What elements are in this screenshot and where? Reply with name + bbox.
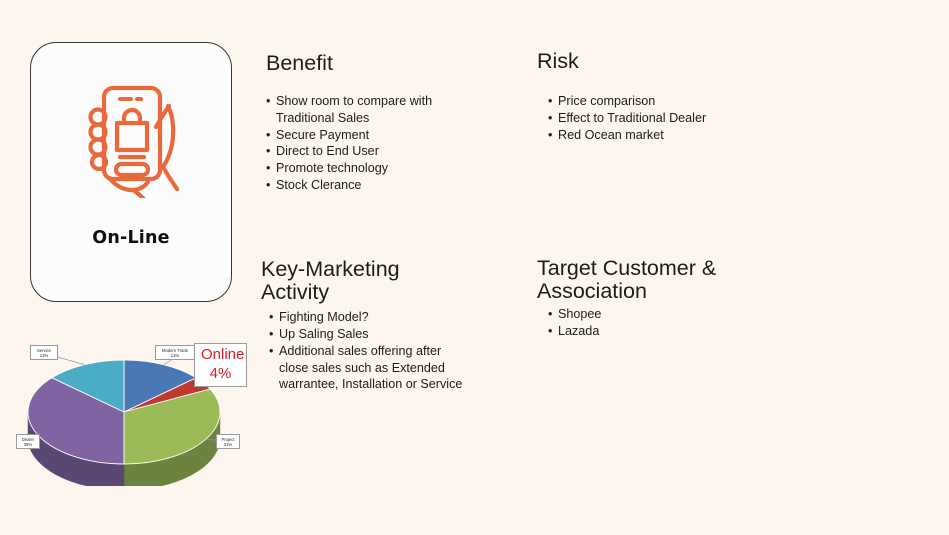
target-customer-bullet-list: Shopee Lazada: [548, 306, 797, 339]
pie-label-online: Online 4%: [194, 343, 247, 387]
section-title-benefit: Benefit: [266, 52, 516, 75]
pie-label-service: Service 13%: [30, 345, 58, 360]
list-item: Fighting Model?: [269, 309, 516, 326]
list-item: Red Ocean market: [548, 127, 787, 144]
pie-label-project: Project 31%: [216, 434, 240, 449]
sales-channel-pie-chart: Service 13% Modern Trade 13% Dealer 35% …: [8, 336, 258, 486]
pie-label-dealer: Dealer 35%: [16, 434, 40, 449]
section-title-key-marketing-activity: Key-Marketing Activity: [261, 258, 516, 304]
list-item: Up Saling Sales: [269, 326, 516, 343]
list-item: Direct to End User: [266, 143, 516, 160]
section-risk: Risk Price comparison Effect to Traditio…: [537, 50, 787, 143]
section-benefit: Benefit Show room to compare with Tradit…: [266, 52, 516, 194]
list-item: Show room to compare with Traditional Sa…: [266, 93, 516, 126]
key-marketing-bullet-list: Fighting Model? Up Saling Sales Addition…: [269, 309, 516, 393]
pie-label-modern-trade: Modern Trade 13%: [155, 345, 195, 360]
list-item: Secure Payment: [266, 127, 516, 144]
section-title-target-customer-association: Target Customer & Association: [537, 257, 797, 303]
online-channel-card: On-Line: [30, 42, 232, 302]
hand-holding-phone-shopping-icon: [76, 83, 186, 203]
list-item: Additional sales offering after close sa…: [269, 343, 516, 393]
list-item: Shopee: [548, 306, 797, 323]
list-item: Promote technology: [266, 160, 516, 177]
section-title-risk: Risk: [537, 50, 787, 73]
card-label: On-Line: [31, 228, 231, 248]
risk-bullet-list: Price comparison Effect to Traditional D…: [548, 93, 787, 143]
list-item: Stock Clerance: [266, 177, 516, 194]
list-item: Effect to Traditional Dealer: [548, 110, 787, 127]
benefit-bullet-list: Show room to compare with Traditional Sa…: [266, 93, 516, 193]
section-key-marketing-activity: Key-Marketing Activity Fighting Model? U…: [261, 258, 516, 393]
section-target-customer-association: Target Customer & Association Shopee Laz…: [537, 257, 797, 340]
list-item: Price comparison: [548, 93, 787, 110]
list-item: Lazada: [548, 323, 797, 340]
